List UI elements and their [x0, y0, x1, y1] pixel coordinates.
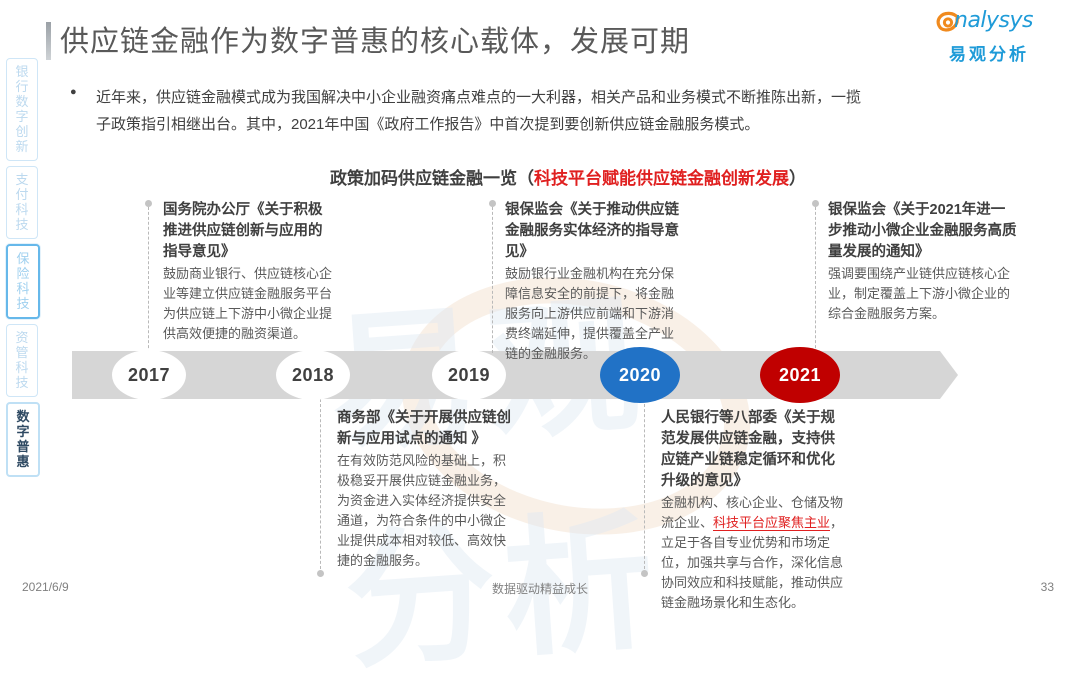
event-heading: 商务部《关于开展供应链创新与应用试点的通知 》: [337, 408, 513, 450]
chart-title-emphasis: 科技平台赋能供应链金融创新发展: [534, 169, 789, 188]
bullet-marker: ●: [70, 86, 77, 98]
timeline-node-label: 2017: [128, 365, 170, 386]
event-card-2017: 国务院办公厅《关于积极推进供应链创新与应用的指导意见》 鼓励商业银行、供应链核心…: [163, 200, 333, 344]
connector-dot-2021: [812, 200, 819, 207]
page-title: 供应链金融作为数字普惠的核心载体，发展可期: [60, 18, 690, 60]
sidebar-item-label: 资管科技: [7, 330, 37, 390]
sidebar-item-payment[interactable]: 支付科技: [6, 166, 38, 239]
footer-page-number: 33: [1041, 580, 1054, 594]
timeline-node-2019[interactable]: 2019: [432, 350, 506, 400]
connector-dot-2020: [641, 570, 648, 577]
footer-slogan: 数据驱动精益成长: [0, 580, 1080, 597]
connector-dot-2018: [317, 570, 324, 577]
logo-wordmark: nalysys: [954, 8, 1033, 33]
event-card-2019: 银保监会《关于推动供应链金融服务实体经济的指导意见》 鼓励银行业金融机构在充分保…: [505, 200, 681, 364]
event-card-2021: 银保监会《关于2021年进一步推动小微企业金融服务高质量发展的通知》 强调要围绕…: [828, 200, 1018, 324]
connector-dot-2019: [489, 200, 496, 207]
sidebar-item-inclusive[interactable]: 数字普惠: [6, 402, 40, 477]
sidebar-item-label: 银行数字创新: [7, 64, 37, 154]
bullet-block: ● 近年来，供应链金融模式成为我国解决中小企业融资痛点难点的一大利器，相关产品和…: [70, 84, 1060, 138]
slide-root: 易观分析 供应链金融作为数字普惠的核心载体，发展可期 nalysys 易观分析 …: [0, 0, 1080, 608]
timeline-node-label: 2021: [779, 365, 821, 386]
chart-title-tail: ）: [789, 169, 806, 188]
timeline-node-label: 2018: [292, 365, 334, 386]
event-body: 鼓励商业银行、供应链核心企业等建立供应链金融服务平台为供应链上下游中小微企业提供…: [163, 264, 333, 344]
sidebar-item-asset[interactable]: 资管科技: [6, 324, 38, 397]
brand-logo: nalysys 易观分析: [924, 10, 1054, 64]
event-heading: 人民银行等八部委《关于规范发展供应链金融，支持供应链产业链稳定循环和优化升级的意…: [661, 408, 845, 492]
footer: 2021/6/9 数据驱动精益成长 33: [0, 580, 1080, 598]
timeline-node-2021[interactable]: 2021: [760, 347, 840, 403]
connector-line-2018: [320, 399, 321, 574]
bullet-line-1: 近年来，供应链金融模式成为我国解决中小企业融资痛点难点的一大利器，相关产品和业务…: [96, 84, 1060, 111]
event-body: 在有效防范风险的基础上，积极稳妥开展供应链金融业务，为资金进入实体经济提供安全通…: [337, 451, 513, 571]
sidebar-item-insurance[interactable]: 保险科技: [6, 244, 40, 319]
connector-dot-2017: [145, 200, 152, 207]
connector-line-2019: [492, 207, 493, 353]
event-card-2018: 商务部《关于开展供应链创新与应用试点的通知 》 在有效防范风险的基础上，积极稳妥…: [337, 408, 513, 571]
event-heading: 银保监会《关于2021年进一步推动小微企业金融服务高质量发展的通知》: [828, 200, 1018, 263]
bullet-line-2: 子政策指引相继出台。其中，2021年中国《政府工作报告》中首次提到要创新供应链金…: [96, 111, 1060, 138]
sidebar-item-label: 保险科技: [8, 251, 38, 311]
title-accent-bar: [46, 22, 51, 60]
connector-line-2017: [148, 207, 149, 353]
connector-line-2021: [815, 207, 816, 353]
connector-line-2020: [644, 399, 645, 574]
sidebar: 银行数字创新 支付科技 保险科技 资管科技 数字普惠: [6, 58, 40, 482]
sidebar-item-label: 数字普惠: [8, 409, 38, 469]
event-body: 强调要围绕产业链供应链核心企业，制定覆盖上下游小微企业的综合金融服务方案。: [828, 264, 1018, 324]
event-heading: 银保监会《关于推动供应链金融服务实体经济的指导意见》: [505, 200, 681, 263]
timeline-node-label: 2020: [619, 365, 661, 386]
chart-title: 政策加码供应链金融一览（科技平台赋能供应链金融创新发展）: [330, 164, 806, 189]
event-body-emphasis: 科技平台应聚焦主业: [713, 515, 830, 531]
logo-chinese: 易观分析: [924, 40, 1054, 65]
chart-title-main: 政策加码供应链金融一览（: [330, 169, 534, 188]
sidebar-item-bank[interactable]: 银行数字创新: [6, 58, 38, 161]
sidebar-item-label: 支付科技: [7, 172, 37, 232]
timeline-node-2018[interactable]: 2018: [276, 350, 350, 400]
timeline-node-label: 2019: [448, 365, 490, 386]
timeline-node-2017[interactable]: 2017: [112, 350, 186, 400]
event-heading: 国务院办公厅《关于积极推进供应链创新与应用的指导意见》: [163, 200, 333, 263]
event-body: 鼓励银行业金融机构在充分保障信息安全的前提下，将金融服务向上游供应前端和下游消费…: [505, 264, 681, 364]
